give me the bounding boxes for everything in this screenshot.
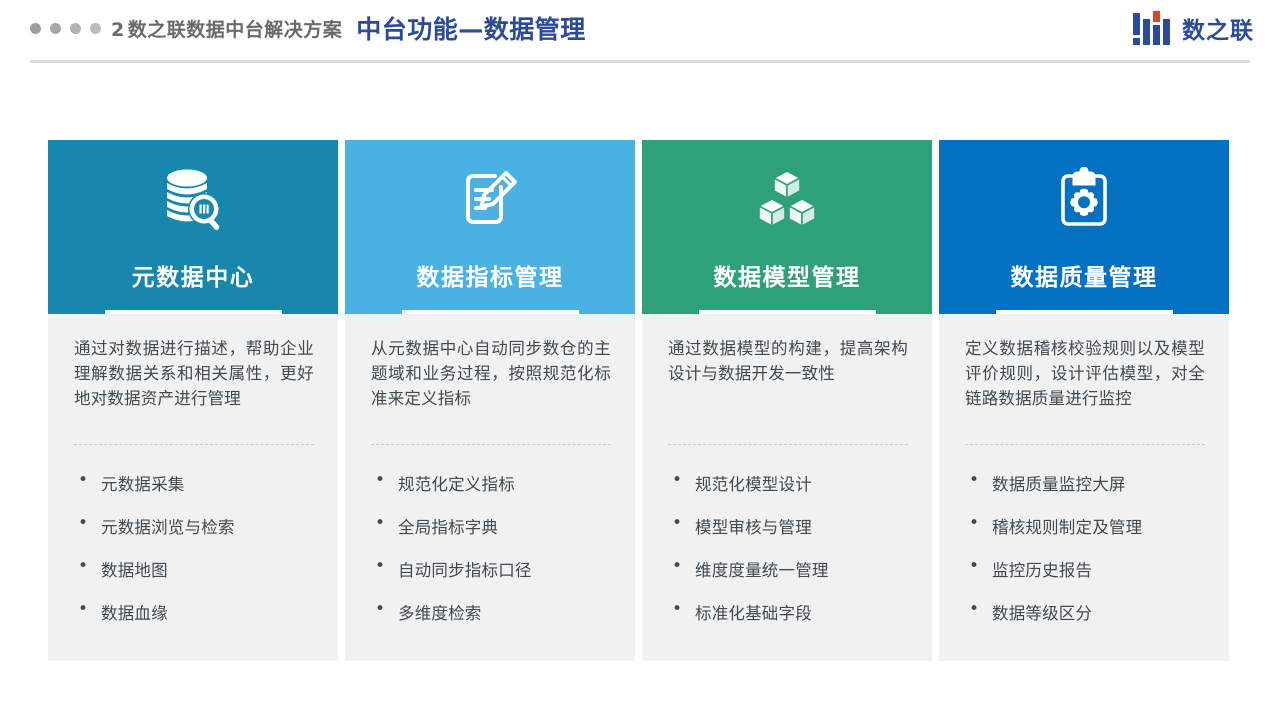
- card-title: 数据指标管理: [417, 258, 564, 292]
- card-title: 元数据中心: [132, 258, 255, 292]
- logo-mark-icon: [1133, 11, 1173, 45]
- cubes-icon: [754, 164, 820, 236]
- title-underline: [402, 310, 579, 314]
- breadcrumb-label: 数之联数据中台解决方案: [128, 19, 343, 41]
- card-feature-list-wrap: 规范化定义指标 全局指标字典 自动同步指标口径 多维度检索: [371, 445, 611, 661]
- document-pencil-icon: [457, 164, 523, 236]
- title-underline: [105, 310, 282, 314]
- list-item[interactable]: 标准化基础字段: [668, 600, 908, 624]
- dot-icon: [30, 23, 41, 34]
- dot-icon: [50, 23, 61, 34]
- card-header: 数据模型管理: [642, 140, 932, 314]
- list-item[interactable]: 数据血缘: [74, 600, 314, 624]
- page-title: 中台功能—数据管理: [356, 10, 586, 46]
- header-content: 2数之联数据中台解决方案 中台功能—数据管理 数之联: [0, 0, 1280, 56]
- feature-card[interactable]: 元数据中心 通过对数据进行描述，帮助企业理解数据关系和相关属性，更好地对数据资产…: [48, 140, 338, 660]
- card-description-wrap: 通过对数据进行描述，帮助企业理解数据关系和相关属性，更好地对数据资产进行管理: [74, 336, 314, 444]
- card-header: 元数据中心: [48, 140, 338, 314]
- list-item[interactable]: 全局指标字典: [371, 514, 611, 538]
- title-underline: [699, 310, 876, 314]
- clipboard-gear-icon: [1053, 164, 1115, 236]
- title-underline: [996, 310, 1173, 314]
- card-header: 数据质量管理: [939, 140, 1229, 314]
- card-header: 数据指标管理: [345, 140, 635, 314]
- card-description-wrap: 从元数据中心自动同步数仓的主题域和业务过程，按照规范化标准来定义指标: [371, 336, 611, 444]
- dot-icon: [90, 23, 101, 34]
- list-item[interactable]: 规范化模型设计: [668, 471, 908, 495]
- list-item[interactable]: 稽核规则制定及管理: [965, 514, 1205, 538]
- feature-card[interactable]: 数据质量管理 定义数据稽核校验规则以及模型评价规则，设计评估模型，对全链路数据质…: [939, 140, 1229, 660]
- card-description-wrap: 定义数据稽核校验规则以及模型评价规则，设计评估模型，对全链路数据质量进行监控: [965, 336, 1205, 444]
- card-description: 定义数据稽核校验规则以及模型评价规则，设计评估模型，对全链路数据质量进行监控: [965, 336, 1205, 411]
- card-description: 通过数据模型的构建，提高架构设计与数据开发一致性: [668, 336, 908, 386]
- breadcrumb: 2数之联数据中台解决方案: [111, 15, 342, 42]
- card-feature-list-wrap: 数据质量监控大屏 稽核规则制定及管理 监控历史报告 数据等级区分: [965, 445, 1205, 661]
- brand-logo: 数之联: [1133, 11, 1254, 45]
- breadcrumb-number: 2: [111, 19, 125, 41]
- feature-card[interactable]: 数据模型管理 通过数据模型的构建，提高架构设计与数据开发一致性 规范化模型设计 …: [642, 140, 932, 660]
- card-body: 通过对数据进行描述，帮助企业理解数据关系和相关属性，更好地对数据资产进行管理 元…: [48, 314, 338, 661]
- card-feature-list-wrap: 规范化模型设计 模型审核与管理 维度度量统一管理 标准化基础字段: [668, 445, 908, 661]
- brand-name: 数之联: [1182, 11, 1254, 45]
- card-body: 从元数据中心自动同步数仓的主题域和业务过程，按照规范化标准来定义指标 规范化定义…: [345, 314, 635, 661]
- database-search-icon: [157, 164, 229, 236]
- card-feature-list: 规范化定义指标 全局指标字典 自动同步指标口径 多维度检索: [371, 471, 611, 624]
- card-description-wrap: 通过数据模型的构建，提高架构设计与数据开发一致性: [668, 336, 908, 444]
- breadcrumb-dots: [30, 23, 101, 34]
- card-feature-list: 规范化模型设计 模型审核与管理 维度度量统一管理 标准化基础字段: [668, 471, 908, 624]
- list-item[interactable]: 规范化定义指标: [371, 471, 611, 495]
- list-item[interactable]: 数据质量监控大屏: [965, 471, 1205, 495]
- list-item[interactable]: 多维度检索: [371, 600, 611, 624]
- slide-header: 2数之联数据中台解决方案 中台功能—数据管理 数之联: [0, 0, 1280, 62]
- card-description: 从元数据中心自动同步数仓的主题域和业务过程，按照规范化标准来定义指标: [371, 336, 611, 411]
- list-item[interactable]: 监控历史报告: [965, 557, 1205, 581]
- list-item[interactable]: 模型审核与管理: [668, 514, 908, 538]
- card-feature-list-wrap: 元数据采集 元数据浏览与检索 数据地图 数据血缘: [74, 445, 314, 661]
- list-item[interactable]: 自动同步指标口径: [371, 557, 611, 581]
- card-description: 通过对数据进行描述，帮助企业理解数据关系和相关属性，更好地对数据资产进行管理: [74, 336, 314, 411]
- card-title: 数据质量管理: [1011, 258, 1158, 292]
- list-item[interactable]: 维度度量统一管理: [668, 557, 908, 581]
- header-divider: [30, 60, 1250, 63]
- dot-icon: [70, 23, 81, 34]
- feature-card-grid: 元数据中心 通过对数据进行描述，帮助企业理解数据关系和相关属性，更好地对数据资产…: [48, 140, 1232, 660]
- list-item[interactable]: 数据地图: [74, 557, 314, 581]
- card-body: 定义数据稽核校验规则以及模型评价规则，设计评估模型，对全链路数据质量进行监控 数…: [939, 314, 1229, 661]
- card-feature-list: 元数据采集 元数据浏览与检索 数据地图 数据血缘: [74, 471, 314, 624]
- card-feature-list: 数据质量监控大屏 稽核规则制定及管理 监控历史报告 数据等级区分: [965, 471, 1205, 624]
- card-title: 数据模型管理: [714, 258, 861, 292]
- list-item[interactable]: 数据等级区分: [965, 600, 1205, 624]
- list-item[interactable]: 元数据浏览与检索: [74, 514, 314, 538]
- list-item[interactable]: 元数据采集: [74, 471, 314, 495]
- card-body: 通过数据模型的构建，提高架构设计与数据开发一致性 规范化模型设计 模型审核与管理…: [642, 314, 932, 661]
- feature-card[interactable]: 数据指标管理 从元数据中心自动同步数仓的主题域和业务过程，按照规范化标准来定义指…: [345, 140, 635, 660]
